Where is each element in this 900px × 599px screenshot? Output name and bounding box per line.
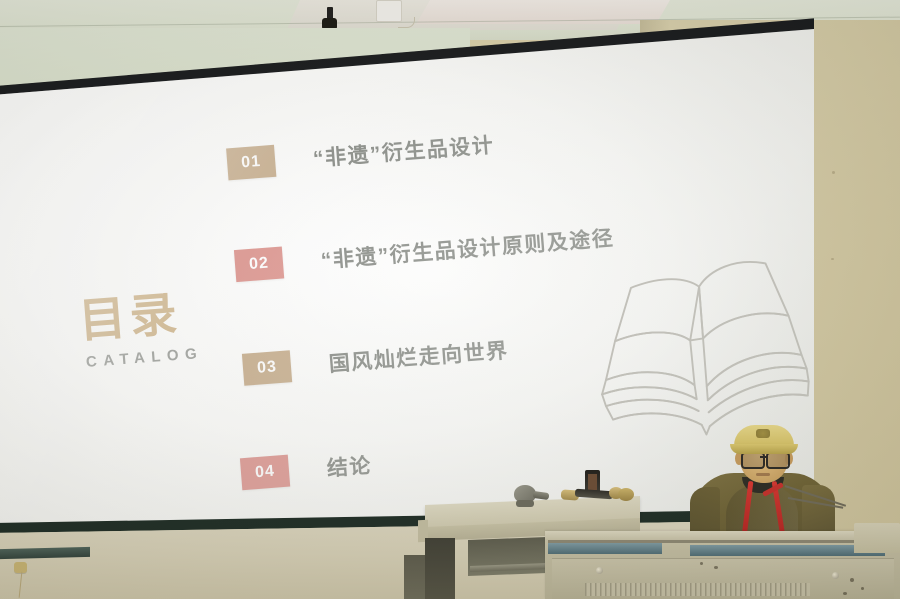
- cap-logo: [756, 429, 770, 438]
- wall-speck: [832, 171, 835, 174]
- open-book-icon: [588, 239, 817, 450]
- list-item-label: “非遗”衍生品设计: [312, 129, 495, 173]
- eyeglasses-bridge: [760, 456, 768, 458]
- panel-speck: [700, 562, 703, 565]
- microphone-post-inner: [588, 474, 597, 490]
- panel-screw: [832, 572, 839, 579]
- cap-brim: [730, 444, 798, 454]
- status-badge: 03: [242, 350, 292, 386]
- page-title: 目录: [77, 290, 182, 345]
- list-item: 03 国风灿烂走向世界: [242, 333, 510, 385]
- list-item: 01 “非遗”衍生品设计: [226, 128, 495, 180]
- microphone-base: [516, 500, 534, 507]
- cabinet-vent-grille: [585, 583, 810, 596]
- podium-lip: [545, 531, 900, 540]
- list-item-label: “非遗”衍生品设计原则及途径: [320, 222, 615, 274]
- panel-speck: [861, 587, 864, 590]
- list-item-label: 结论: [326, 449, 373, 482]
- panel-speck: [843, 592, 847, 595]
- list-item: 04 结论: [240, 448, 373, 490]
- side-cabinet: [425, 538, 455, 599]
- panel-speck: [714, 566, 718, 569]
- presenter: [690, 425, 835, 545]
- list-item: 02 “非遗”衍生品设计原则及途径: [234, 221, 615, 282]
- microphone-knob: [618, 488, 634, 501]
- panel-speck: [850, 578, 854, 582]
- lecture-hall-photo: 目录 CATALOG 01 “非遗”衍生品设计 02 “非遗”衍生品设计原则及途…: [0, 0, 900, 599]
- presenter-mouth: [756, 473, 770, 476]
- status-badge: 01: [226, 145, 276, 181]
- page-subtitle: CATALOG: [85, 345, 203, 371]
- status-badge: 04: [240, 455, 290, 491]
- panel-screw: [596, 567, 603, 574]
- wall-speck: [831, 258, 834, 260]
- podium-trim-left: [548, 543, 662, 554]
- podium-side-box: [854, 523, 900, 553]
- eyeglasses-icon-right: [766, 452, 790, 469]
- eyeglasses-icon: [741, 452, 765, 469]
- status-badge: 02: [234, 246, 284, 282]
- list-item-label: 国风灿烂走向世界: [328, 334, 510, 378]
